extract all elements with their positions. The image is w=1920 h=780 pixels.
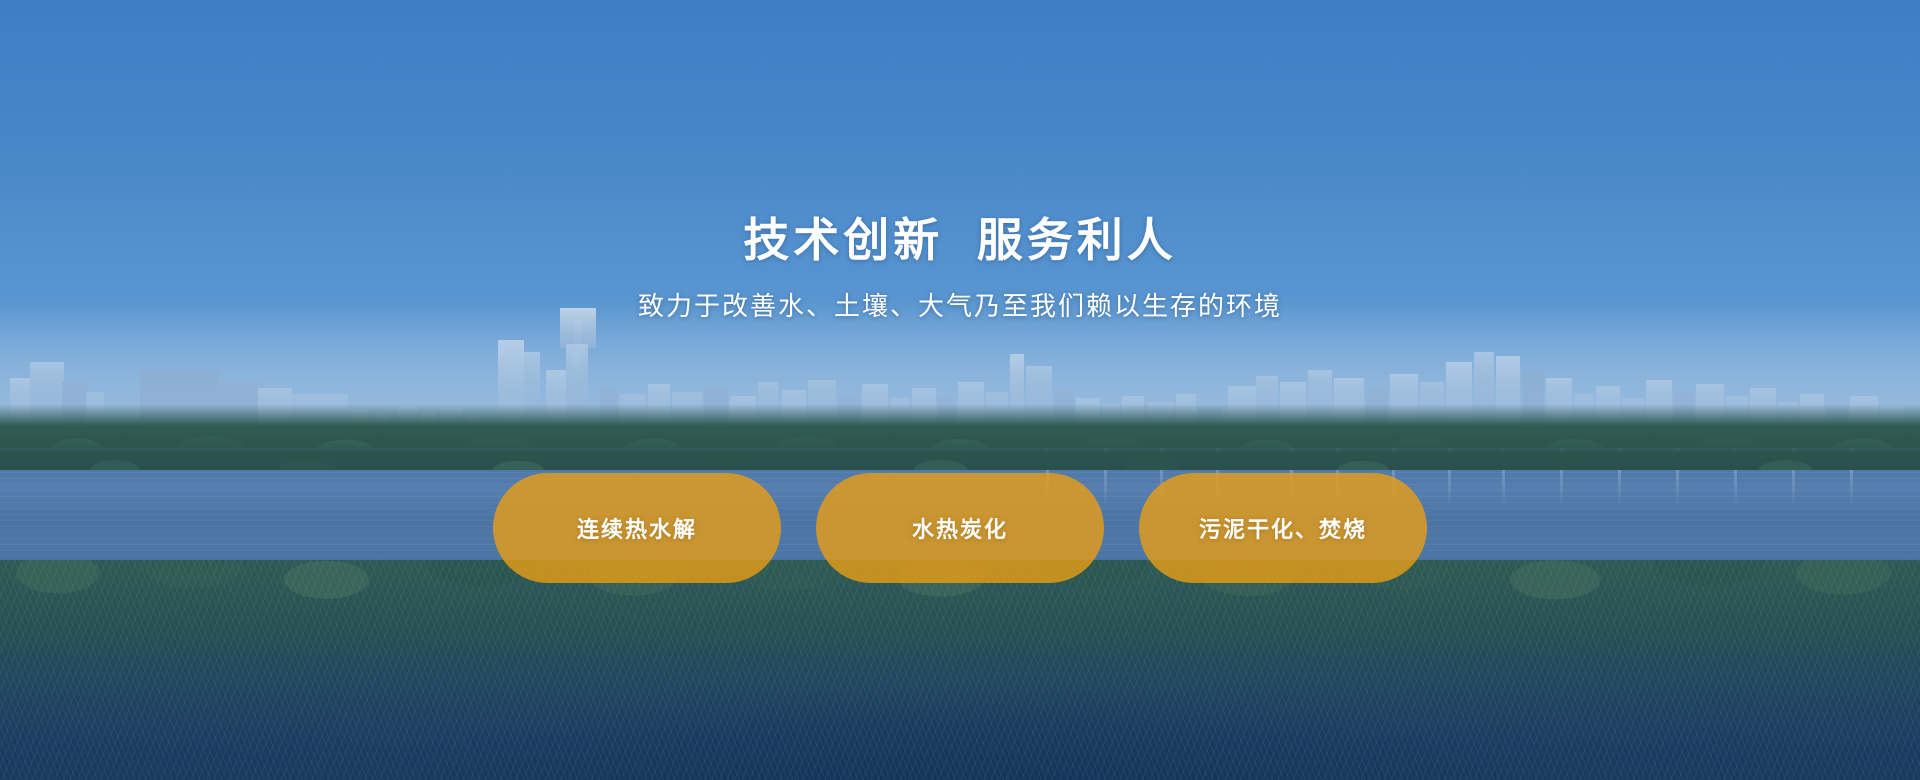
pill-label: 连续热水解 <box>577 512 697 544</box>
service-pill-group: 连续热水解 水热炭化 污泥干化、焚烧 <box>0 473 1920 583</box>
pill-button-hydrothermal-carbonization[interactable]: 水热炭化 <box>816 473 1104 583</box>
pill-button-continuous-thermal-hydrolysis[interactable]: 连续热水解 <box>493 473 781 583</box>
headline-block: 技术创新 服务利人 致力于改善水、土壤、大气乃至我们赖以生存的环境 <box>0 212 1920 324</box>
page-subtitle: 致力于改善水、土壤、大气乃至我们赖以生存的环境 <box>0 288 1920 324</box>
pill-label: 水热炭化 <box>912 512 1008 544</box>
pill-button-sludge-drying-incineration[interactable]: 污泥干化、焚烧 <box>1139 473 1427 583</box>
page-title: 技术创新 服务利人 <box>0 212 1920 270</box>
foreground-vegetation <box>0 560 1920 780</box>
pill-label: 污泥干化、焚烧 <box>1199 512 1367 544</box>
mid-riverbank <box>0 430 1920 470</box>
hero-banner: 技术创新 服务利人 致力于改善水、土壤、大气乃至我们赖以生存的环境 连续热水解 … <box>0 0 1920 780</box>
